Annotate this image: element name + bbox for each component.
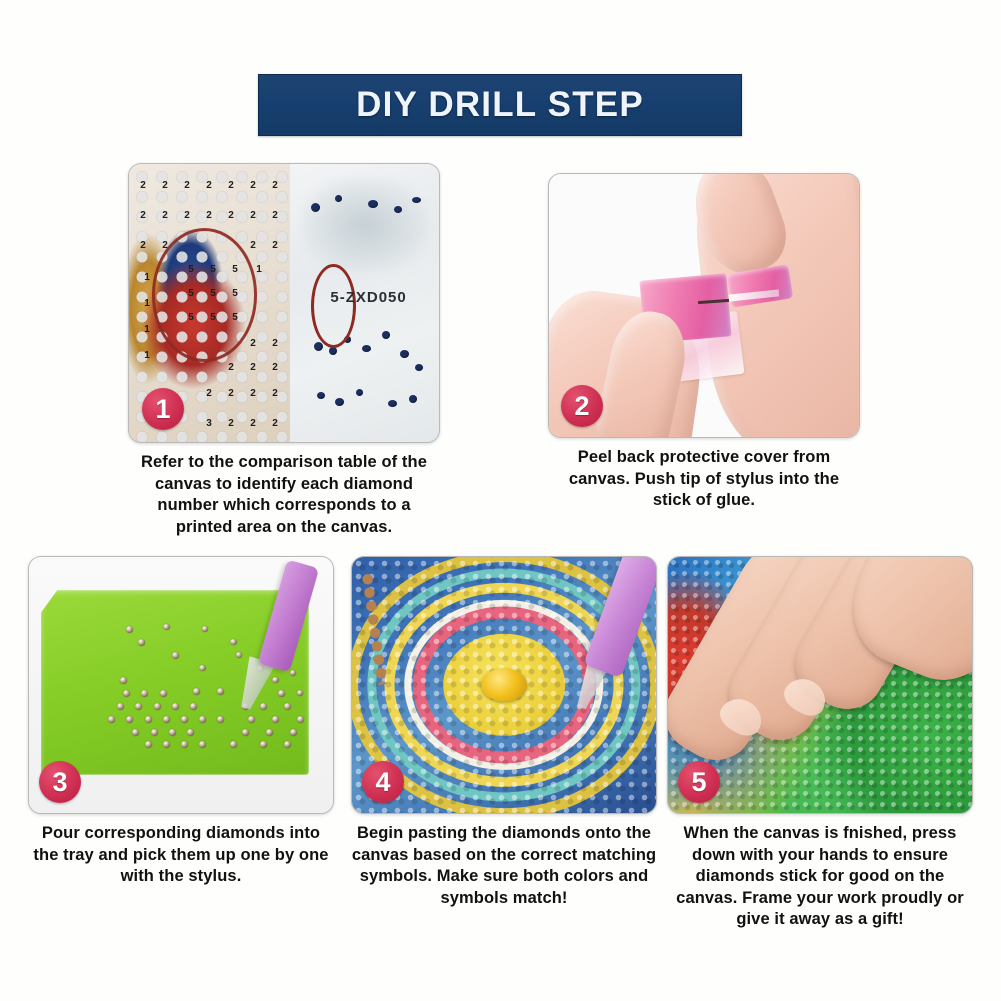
step-number-5: 5: [691, 769, 706, 796]
step-2-image: 2: [548, 173, 860, 438]
page-title: DIY DRILL STEP: [356, 85, 644, 125]
step-number-1: 1: [155, 396, 170, 423]
step-number-badge-5: 5: [678, 761, 720, 803]
drill-bag: 5-ZXD050: [290, 164, 439, 442]
step-1-image: 2 2 2 2 2 2 2 2 2 2 2 2 2 2 2 2 2: [128, 163, 440, 443]
step-4-caption: Begin pasting the diamonds onto the canv…: [351, 823, 657, 909]
step-number-badge-1: 1: [142, 388, 184, 430]
step-card-1: 2 2 2 2 2 2 2 2 2 2 2 2 2 2 2 2 2: [128, 163, 440, 538]
step-card-2: 2 Peel back protective cover from canvas…: [548, 173, 860, 512]
step-1-caption: Refer to the comparison table of the can…: [128, 452, 440, 538]
step-number-badge-3: 3: [39, 761, 81, 803]
step-card-4: 4 Begin pasting the diamonds onto the ca…: [351, 556, 657, 909]
bag-sheen: [302, 178, 427, 273]
step-card-5: 5 When the canvas is fnished, press down…: [667, 556, 973, 931]
bag-label-text: 5-ZXD050: [330, 289, 406, 306]
step-4-image: 4: [351, 556, 657, 814]
step-2-caption: Peel back protective cover from canvas. …: [548, 447, 860, 512]
step-number-3: 3: [52, 769, 67, 796]
step-3-caption: Pour corresponding diamonds into the tra…: [28, 823, 334, 888]
step-5-caption: When the canvas is fnished, press down w…: [667, 823, 973, 931]
canvas-highlight-ellipse: [152, 228, 258, 362]
step-number-2: 2: [574, 393, 589, 420]
step-number-badge-2: 2: [561, 385, 603, 427]
step-number-badge-4: 4: [362, 761, 404, 803]
step-card-3: 3 Pour corresponding diamonds into the t…: [28, 556, 334, 888]
step-number-4: 4: [375, 769, 390, 796]
page-title-banner: DIY DRILL STEP: [258, 74, 742, 136]
step-3-image: 3: [28, 556, 334, 814]
step-5-image: 5: [667, 556, 973, 814]
center-amber-gem: [481, 668, 527, 701]
